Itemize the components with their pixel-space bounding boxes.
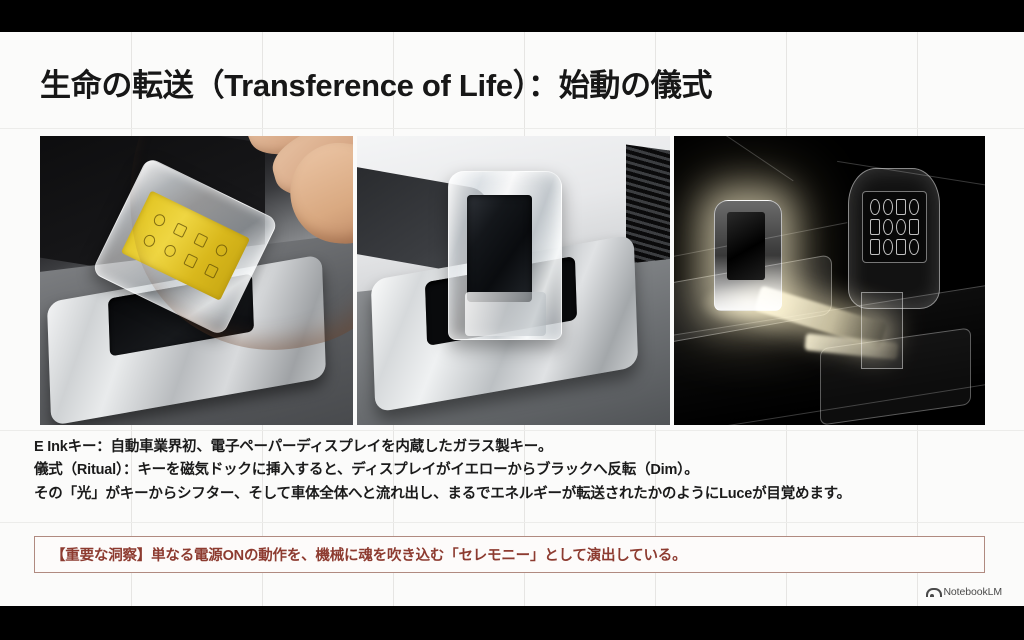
page-title: 生命の転送（Transference of Life）：始動の儀式 — [40, 68, 712, 104]
slide-screen: 生命の転送（Transference of Life）：始動の儀式 — [0, 0, 1024, 640]
internal-icon-square — [870, 239, 880, 255]
internal-icon-square — [909, 219, 919, 235]
figure-key-insertion — [40, 136, 353, 425]
letterbox-top — [0, 0, 1024, 32]
letterbox-bottom — [0, 606, 1024, 640]
internal-icon-square — [896, 239, 906, 255]
figure3-glass-key-glowing — [714, 200, 781, 312]
figure3-shifter-internals — [862, 191, 927, 263]
internal-icon-dot — [883, 239, 893, 255]
body-line-3: その「光」がキーからシフター、そして車体全体へと流れ出し、まるでエネルギーが転送… — [34, 483, 990, 506]
figure3-eink-display-black — [727, 212, 765, 280]
slide-canvas: 生命の転送（Transference of Life）：始動の儀式 — [0, 32, 1024, 606]
grid-line-horizontal — [0, 128, 1024, 129]
notebooklm-watermark: NotebookLM — [926, 586, 1002, 598]
figure2-eink-display-black — [467, 195, 532, 302]
figure2-glass-key — [448, 171, 563, 341]
figure-strip — [40, 136, 985, 425]
internal-icon-dot — [896, 219, 906, 235]
figure3-shifter-knob — [848, 168, 940, 309]
figure2-key-base — [465, 292, 546, 336]
internal-icon-square — [870, 219, 880, 235]
body-text-block: E Inkキー：自動車業界初、電子ペーパーディスプレイを内蔵したガラス製キー。 … — [34, 436, 990, 506]
internal-icon-dot — [909, 199, 919, 215]
figure-energy-transfer — [674, 136, 985, 425]
key-insight-text: 【重要な洞察】単なる電源ONの動作を、機械に魂を吹き込む「セレモニー」として演出… — [35, 544, 686, 565]
grid-line-horizontal — [0, 430, 1024, 431]
notebooklm-icon — [926, 586, 938, 598]
figure-key-docked — [357, 136, 670, 425]
internal-icon-dot — [883, 199, 893, 215]
internal-icon-dot — [909, 239, 919, 255]
grid-line-horizontal — [0, 522, 1024, 523]
internal-icon-dot — [870, 199, 880, 215]
body-line-1: E Inkキー：自動車業界初、電子ペーパーディスプレイを内蔵したガラス製キー。 — [34, 436, 990, 459]
key-insight-callout: 【重要な洞察】単なる電源ONの動作を、機械に魂を吹き込む「セレモニー」として演出… — [34, 536, 985, 573]
internal-icon-square — [896, 199, 906, 215]
watermark-label: NotebookLM — [943, 586, 1002, 598]
body-line-2: 儀式（Ritual）：キーを磁気ドックに挿入すると、ディスプレイがイエローからブ… — [34, 459, 990, 482]
internal-icon-dot — [883, 219, 893, 235]
